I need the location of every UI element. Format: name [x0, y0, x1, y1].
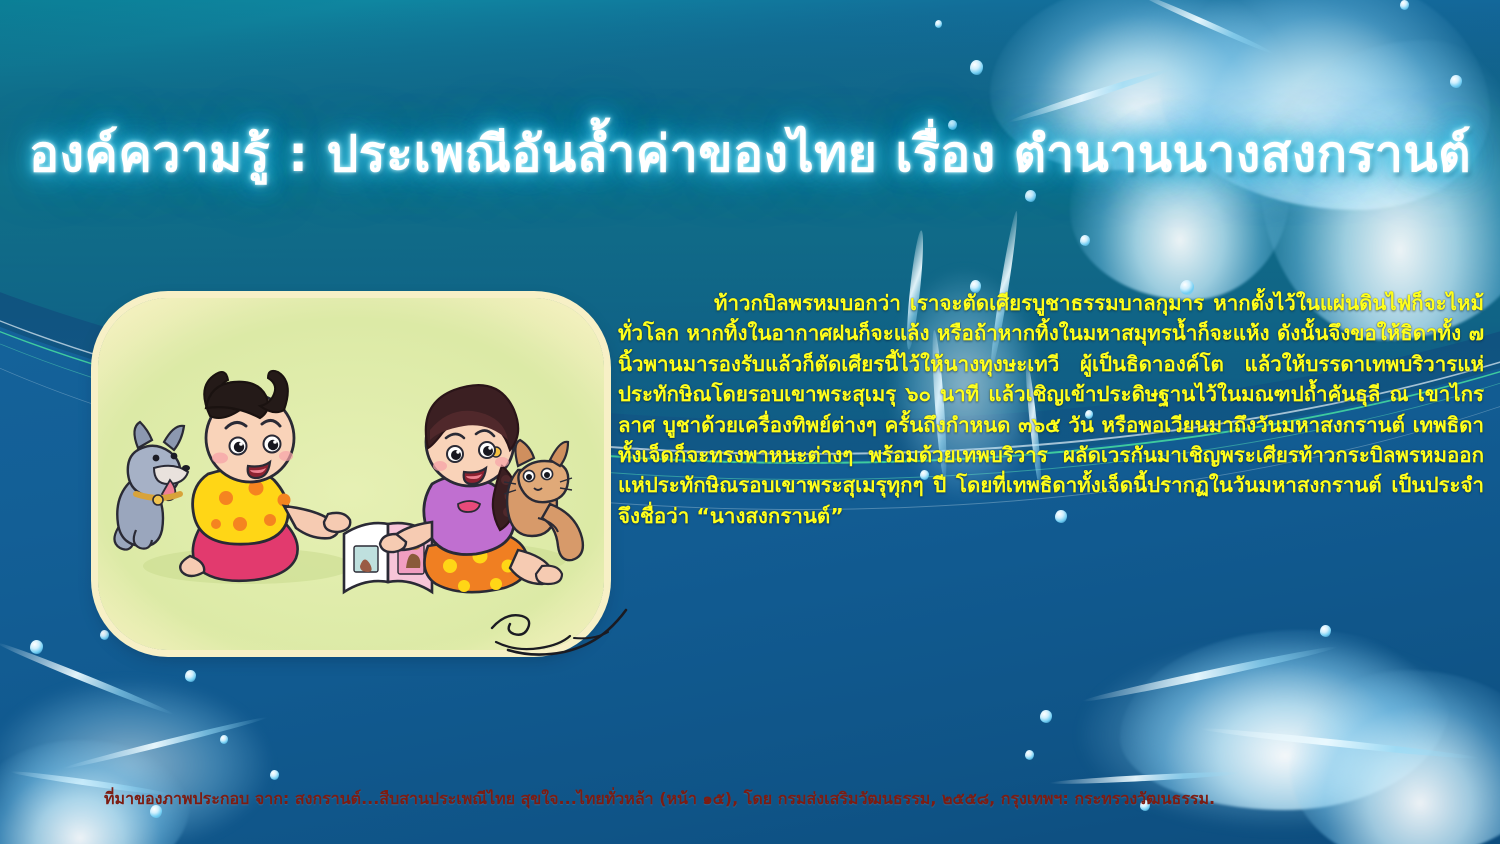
open-book: นางสงกรานต์ — [344, 523, 442, 592]
page-title: องค์ความรู้ : ประเพณีอันล้ำค่าของไทย เรื… — [0, 126, 1500, 182]
boy-figure — [180, 371, 350, 581]
cat-figure — [504, 440, 583, 560]
girl-figure — [380, 385, 562, 592]
dog-figure — [114, 422, 190, 550]
artist-signature — [488, 594, 638, 664]
source-credit: ที่มาของภาพประกอบ จาก: สงกรานต์...สืบสาน… — [104, 787, 1424, 812]
svg-text:นางสงกรานต์: นางสงกรานต์ — [397, 524, 442, 540]
slide-canvas: องค์ความรู้ : ประเพณีอันล้ำค่าของไทย เรื… — [0, 0, 1500, 844]
body-paragraph: ท้าวกบิลพรหมบอกว่า เราจะตัดเศียรบูชาธรรม… — [618, 288, 1484, 531]
illustration: นางสงกรานต์ — [98, 298, 604, 650]
